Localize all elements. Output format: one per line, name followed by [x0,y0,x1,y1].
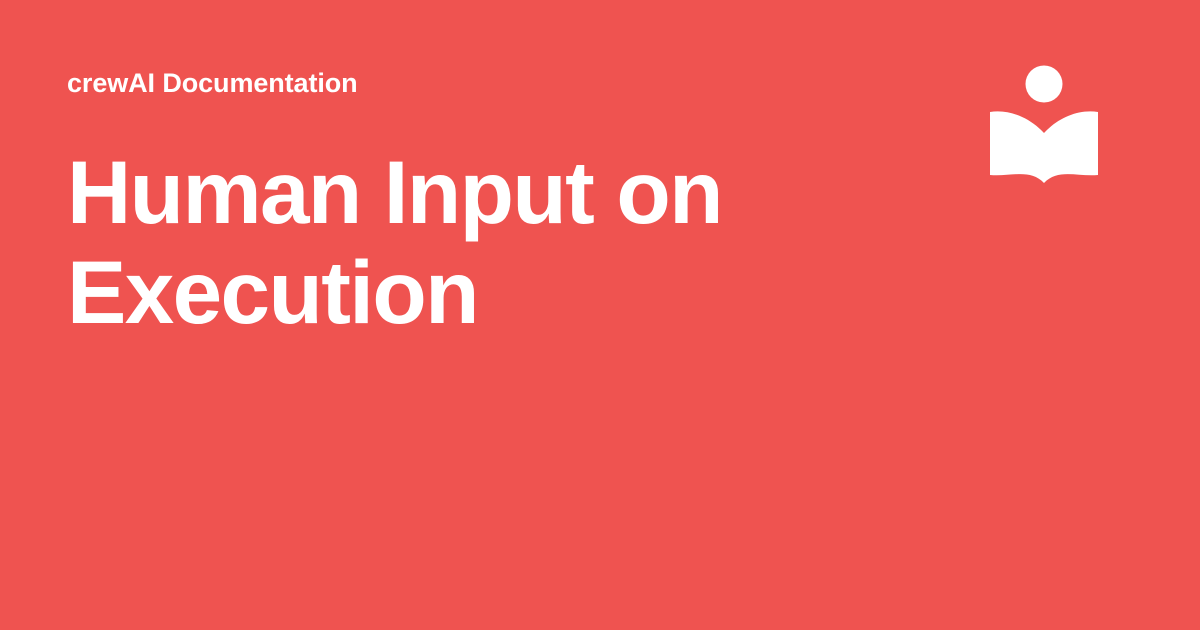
book-left-page-icon [990,111,1044,183]
card-content: crewAI Documentation Human Input on Exec… [67,66,827,342]
open-book-reader-icon [984,60,1104,190]
social-card: crewAI Documentation Human Input on Exec… [0,0,1200,630]
book-right-page-icon [1044,111,1098,183]
site-label: crewAI Documentation [67,66,827,100]
reader-head-icon [1026,66,1063,103]
page-title: Human Input on Execution [67,142,767,342]
